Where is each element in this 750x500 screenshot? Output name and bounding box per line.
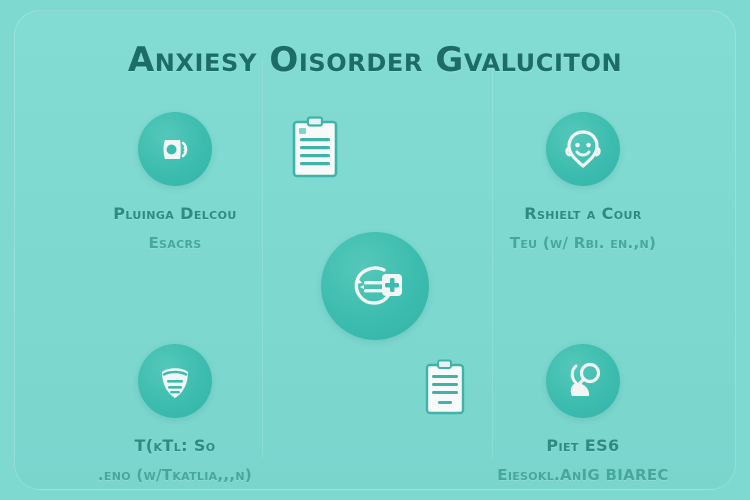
magnifier-stethoscope-icon bbox=[562, 360, 604, 402]
node-protect[interactable]: T(kTl: So .eno (w/Tkatlia,,,n) bbox=[60, 344, 290, 484]
node-center[interactable] bbox=[260, 232, 490, 358]
smiling-face-icon bbox=[562, 127, 604, 171]
infographic-canvas: Anxiesy Oisorder Gvaluciton Pluinga Delc… bbox=[0, 0, 750, 500]
support-label-secondary: Teu (w/ Rbi. en.,n) bbox=[468, 234, 698, 252]
center-badge[interactable] bbox=[321, 232, 429, 340]
protect-badge[interactable] bbox=[138, 344, 212, 418]
page-title: Anxiesy Oisorder Gvaluciton bbox=[0, 40, 750, 80]
shield-lines-icon bbox=[154, 360, 196, 402]
support-badge[interactable] bbox=[546, 112, 620, 186]
refresh-settings-icon bbox=[344, 257, 406, 315]
node-form-top[interactable] bbox=[200, 112, 430, 204]
form-top-icon-wrap[interactable] bbox=[278, 112, 352, 186]
assessment-label-primary: Pluinga Delcou bbox=[60, 204, 290, 223]
protect-label-primary: T(kTl: So bbox=[60, 436, 290, 455]
clipboard-document-icon bbox=[290, 116, 340, 183]
cup-speech-icon bbox=[155, 129, 195, 169]
review-label-secondary: Eiesokl.AnIG BIAREC bbox=[468, 466, 698, 484]
protect-label-secondary: .eno (w/Tkatlia,,,n) bbox=[60, 466, 290, 484]
node-review[interactable]: Piet ES6 Eiesokl.AnIG BIAREC bbox=[468, 344, 698, 484]
clipboard-document-icon bbox=[423, 359, 467, 420]
review-badge[interactable] bbox=[546, 344, 620, 418]
support-label-primary: Rshielt a Cour bbox=[468, 204, 698, 223]
review-label-primary: Piet ES6 bbox=[468, 436, 698, 455]
assessment-label-secondary: Esacrs bbox=[60, 234, 290, 252]
node-support[interactable]: Rshielt a Cour Teu (w/ Rbi. en.,n) bbox=[468, 112, 698, 252]
